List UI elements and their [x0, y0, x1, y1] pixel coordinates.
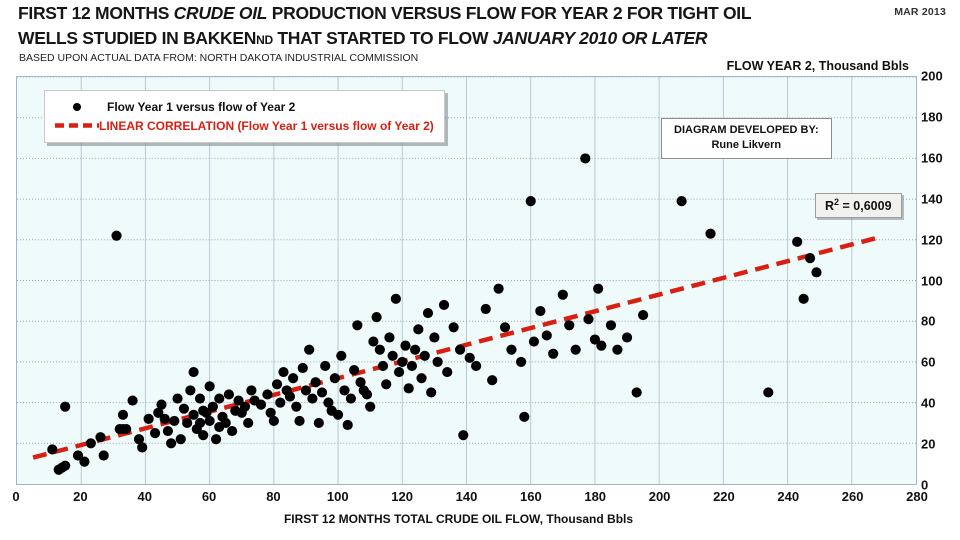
y-axis-tick-label: 180: [921, 109, 943, 124]
y-axis-tick-label: 20: [921, 437, 935, 452]
y-axis-tick-label: 80: [921, 314, 935, 329]
title-part-c: WELLS STUDIED IN BAKKEN: [18, 28, 256, 48]
x-axis-tick-label: 60: [202, 489, 216, 504]
x-axis-title: FIRST 12 MONTHS TOTAL CRUDE OIL FLOW, Th…: [0, 512, 917, 526]
legend-dot-icon: [55, 103, 99, 111]
y-axis-tick-label: 120: [921, 232, 943, 247]
diagram-credit-box: DIAGRAM DEVELOPED BY: Rune Likvern: [661, 118, 832, 159]
legend-dashed-line-icon: [55, 123, 99, 128]
y-axis-tick-label: 160: [921, 150, 943, 165]
x-axis-tick-label: 40: [137, 489, 151, 504]
x-axis-tick-label: 140: [456, 489, 478, 504]
title-subscript-nd: ND: [256, 33, 273, 47]
x-axis-tick-label: 180: [584, 489, 606, 504]
title-part-b: PRODUCTION VERSUS FLOW FOR YEAR 2 FOR TI…: [267, 3, 751, 23]
x-axis-tick-label: 120: [391, 489, 413, 504]
x-axis-tick-label: 80: [266, 489, 280, 504]
y-axis-title: FLOW YEAR 2, Thousand Bbls: [0, 59, 917, 73]
y-axis-tick-label: 140: [921, 191, 943, 206]
y-axis-tick-label: 60: [921, 355, 935, 370]
page-title-line-2: WELLS STUDIED IN BAKKENND THAT STARTED T…: [18, 28, 707, 49]
page-title-line-1: FIRST 12 MONTHS CRUDE OIL PRODUCTION VER…: [18, 3, 751, 24]
title-emphasis-date-range: JANUARY 2010 OR LATER: [493, 28, 707, 48]
x-axis-tick-label: 100: [327, 489, 349, 504]
x-axis-tick-label: 160: [520, 489, 542, 504]
y-axis-tick-label: 200: [921, 69, 943, 84]
legend-item-trendline[interactable]: LINEAR CORRELATION (Flow Year 1 versus f…: [55, 116, 434, 135]
x-axis-tick-label: 240: [777, 489, 799, 504]
x-axis-tick-label: 20: [73, 489, 87, 504]
title-emphasis-crude-oil: CRUDE OIL: [174, 3, 268, 23]
date-stamp: MAR 2013: [894, 6, 946, 18]
legend-label-scatter: Flow Year 1 versus flow of Year 2: [99, 100, 295, 114]
title-part-d: THAT STARTED TO FLOW: [273, 28, 493, 48]
x-axis-tick-label: 260: [842, 489, 864, 504]
y-axis-tick-label: 100: [921, 273, 943, 288]
r-squared-prefix: R: [825, 199, 834, 213]
credit-line-2: Rune Likvern: [674, 138, 819, 153]
x-axis-tick-label: 200: [649, 489, 671, 504]
r-squared-value: = 0,6009: [839, 199, 891, 213]
y-axis-tick-label: 40: [921, 396, 935, 411]
x-axis-tick-label: 0: [12, 489, 19, 504]
x-axis-tick-label: 220: [713, 489, 735, 504]
legend-item-scatter[interactable]: Flow Year 1 versus flow of Year 2: [55, 97, 434, 116]
r-squared-badge: R2 = 0,6009: [815, 193, 902, 218]
credit-line-1: DIAGRAM DEVELOPED BY:: [674, 123, 819, 138]
chart-legend: Flow Year 1 versus flow of Year 2 LINEAR…: [44, 90, 445, 143]
title-part-a: FIRST 12 MONTHS: [18, 3, 174, 23]
legend-label-trendline: LINEAR CORRELATION (Flow Year 1 versus f…: [99, 119, 434, 133]
x-axis-tick-label: 280: [906, 489, 928, 504]
